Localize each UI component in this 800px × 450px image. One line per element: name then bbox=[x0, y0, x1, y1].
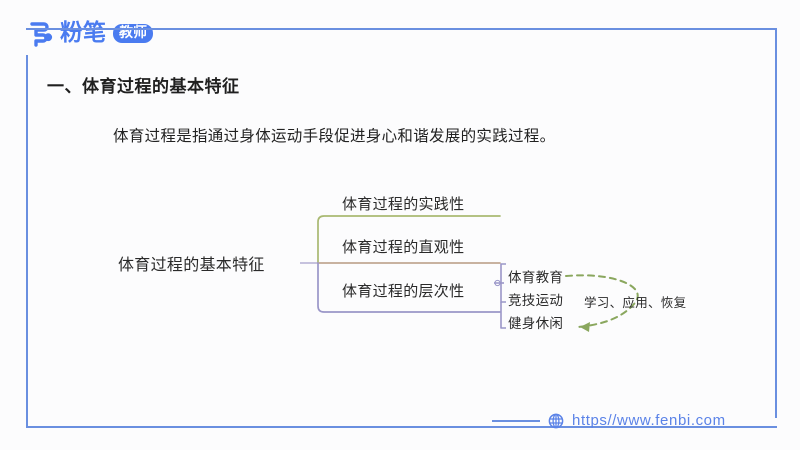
mindmap-subitem-3: 健身休闲 bbox=[508, 312, 563, 332]
mindmap-annotation-label: 学习、应用、恢复 bbox=[584, 292, 686, 311]
mindmap-branch-3: 体育过程的层次性 bbox=[342, 280, 464, 301]
mindmap-subitem-2: 竞技运动 bbox=[508, 289, 563, 309]
slide-canvas: 粉笔 教师 一、体育过程的基本特征 体育过程是指通过身体运动手段促进身心和谐发展… bbox=[0, 0, 800, 450]
mindmap-root-node: 体育过程的基本特征 bbox=[118, 251, 265, 275]
mindmap-subitem-1: 体育教育 bbox=[508, 266, 563, 286]
footer-divider bbox=[492, 420, 540, 422]
footer-url-text[interactable]: https//www.fenbi.com bbox=[572, 412, 726, 429]
mindmap-branch-2: 体育过程的直观性 bbox=[342, 236, 464, 257]
mindmap-connectors bbox=[0, 0, 800, 450]
globe-icon bbox=[548, 413, 564, 429]
footer-url-group: https//www.fenbi.com bbox=[492, 412, 726, 429]
mindmap-branch-1: 体育过程的实践性 bbox=[342, 193, 464, 214]
